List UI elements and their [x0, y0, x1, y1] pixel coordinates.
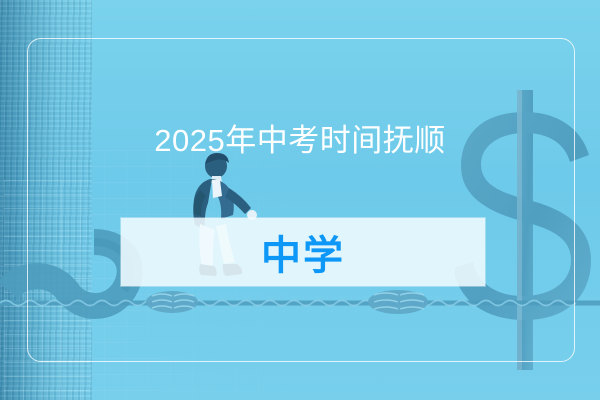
banner-image: 2025年中考时间抚顺 中学 [0, 0, 600, 400]
highlight-label: 中学 [121, 218, 485, 286]
tightrope-icon [0, 286, 600, 320]
page-title: 2025年中考时间抚顺 [0, 122, 600, 160]
